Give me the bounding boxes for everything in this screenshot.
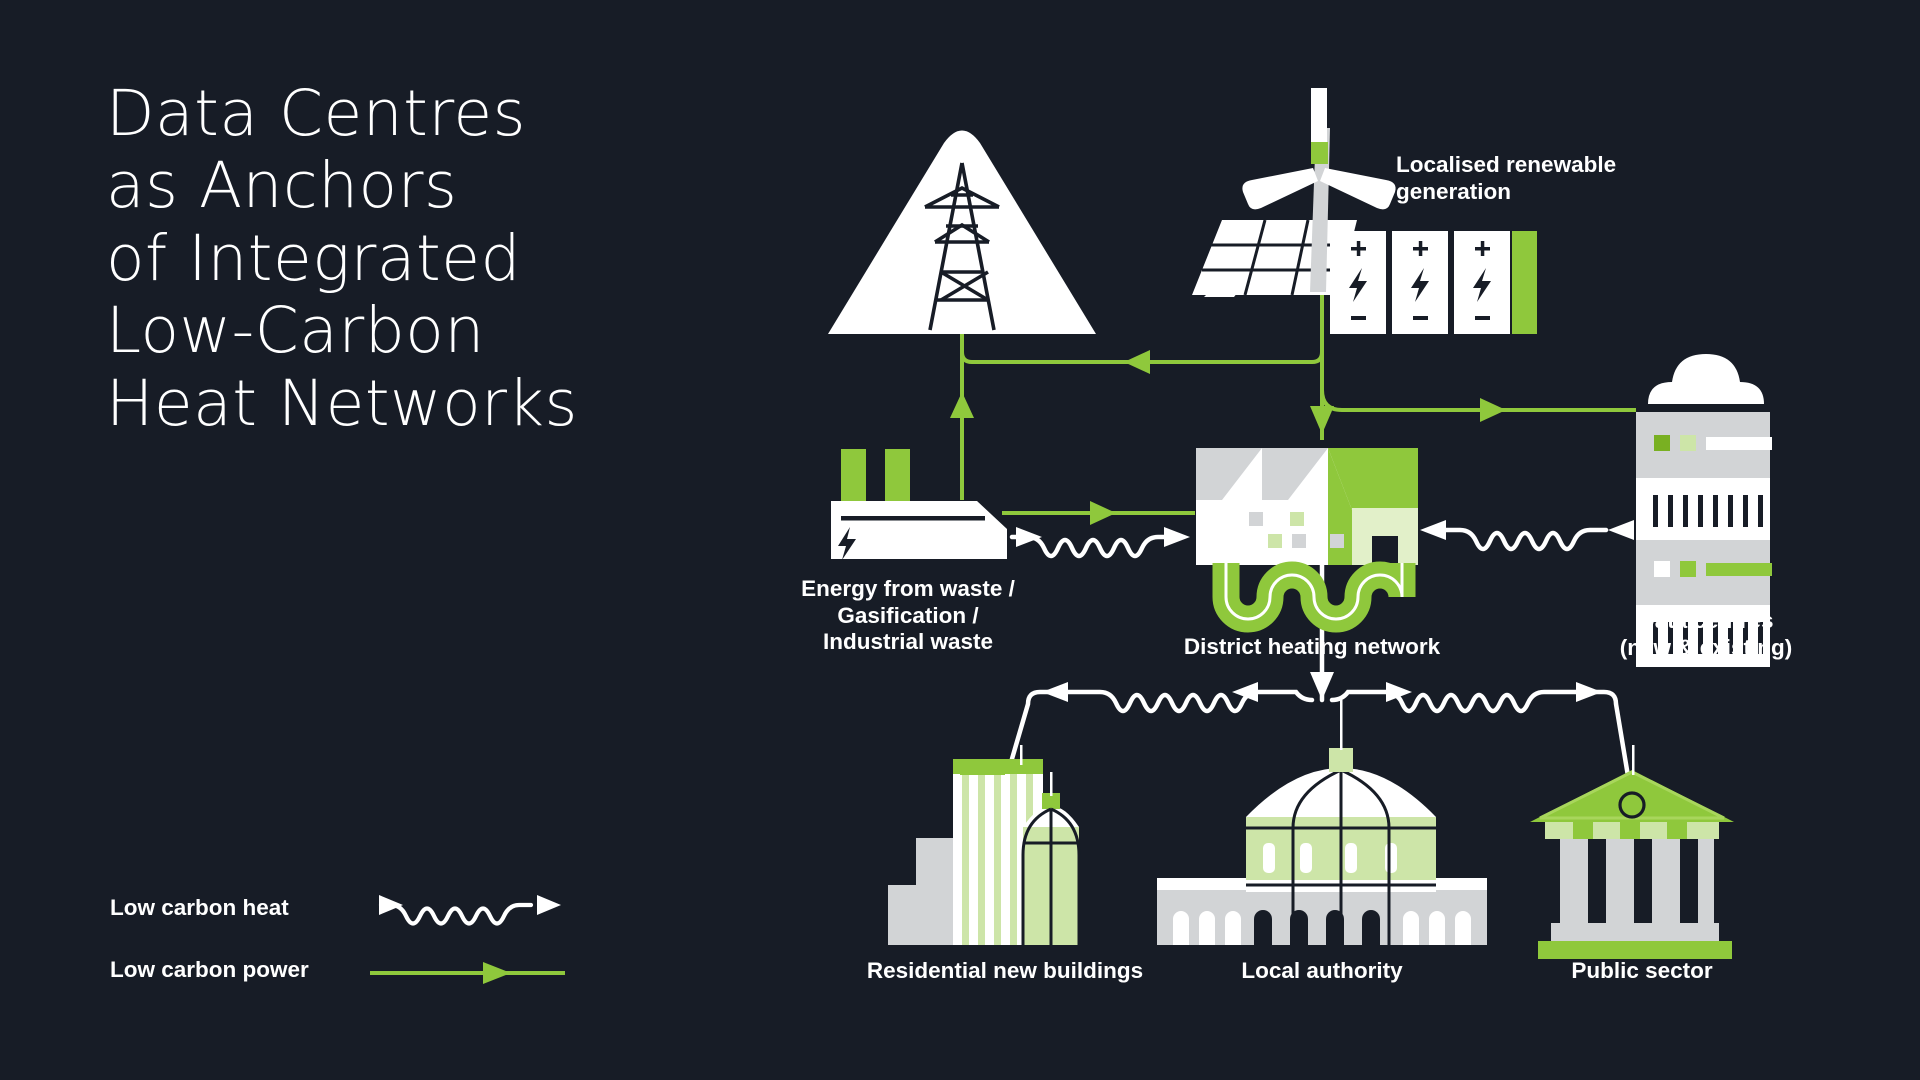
label-authority: Local authority (1152, 958, 1492, 985)
label-waste: Energy from waste / Gasification / Indus… (738, 576, 1078, 656)
waste-plant-icon (831, 449, 1007, 560)
legend-item-heat: Low carbon heat (110, 885, 570, 947)
classical-building-icon (1530, 745, 1734, 959)
label-district: District heating network (1122, 634, 1502, 661)
infographic-canvas: Data Centres as Anchors of Integrated Lo… (0, 0, 1920, 1080)
legend-swatch-power (365, 945, 570, 1001)
legend-label-power: Low carbon power (110, 957, 309, 983)
cloud-icon (1648, 354, 1764, 404)
battery-bank-icon (1330, 231, 1537, 334)
legend-item-power: Low carbon power (110, 947, 570, 1009)
pylon-icon (828, 131, 1096, 335)
label-renewables: Localised renewable generation (1396, 152, 1716, 205)
label-publicsector: Public sector (1512, 958, 1772, 985)
residential-buildings-icon (888, 745, 1079, 945)
legend-swatch-heat (365, 883, 570, 939)
district-heating-icon (1196, 448, 1418, 619)
legend: Low carbon heat Low carbon power (110, 885, 570, 1009)
label-datacentre: Data centres (new & existing) (1578, 608, 1834, 661)
legend-label-heat: Low carbon heat (110, 895, 289, 921)
capitol-dome-icon (1157, 700, 1487, 945)
